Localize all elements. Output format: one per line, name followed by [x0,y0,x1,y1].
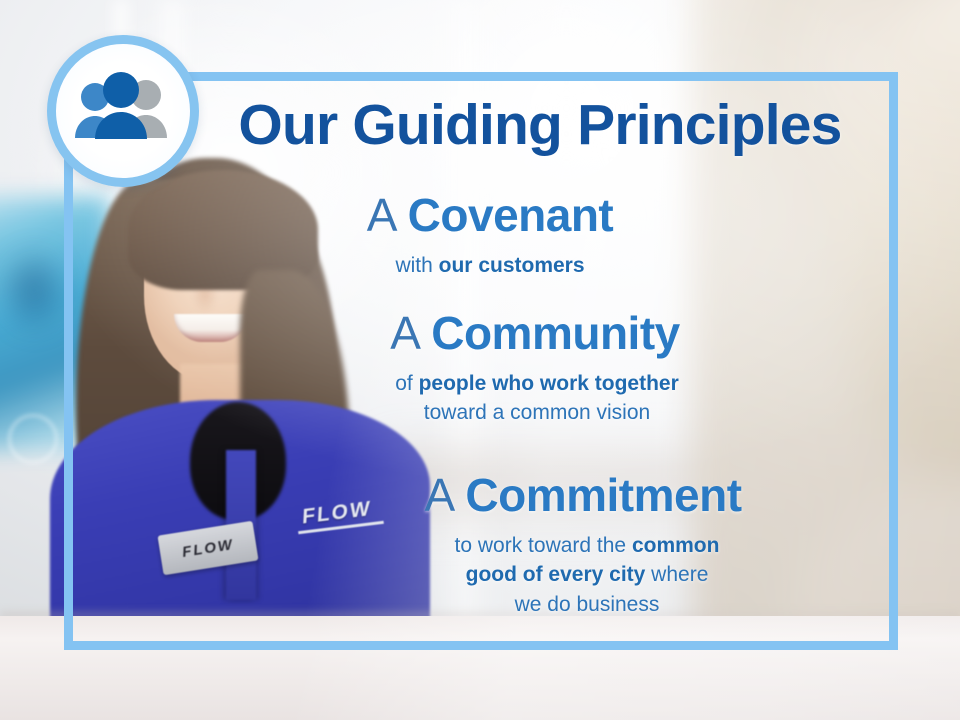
principle-keyword: Community [431,307,680,359]
banner-image: FLOW FLOW [0,0,960,720]
subtext-segment: we do business [515,593,660,616]
subtext-segment-bold: people who work together [419,372,679,395]
principle-block-covenant: A Covenant with our customers [90,190,880,280]
principle-article: A [367,189,408,241]
principle-block-community: A Community of people who work together … [90,308,880,428]
principle-keyword: Covenant [408,189,614,241]
subtext-segment: where [645,563,708,586]
subtext-segment: of [395,372,418,395]
principle-title-commitment: A Commitment [90,470,880,522]
subtext-segment-bold: our customers [439,254,585,277]
subtext-line: toward a common vision [194,398,880,428]
subtext-line: to work toward the common [294,531,880,561]
subtext-segment: with [395,254,438,277]
subtext-line: with our customers [100,251,880,281]
subtext-segment: to work toward the [455,534,632,557]
subtext-line: of people who work together [194,369,880,399]
principle-subtext-commitment: to work toward the common good of every … [90,531,880,620]
subtext-segment: toward a common vision [424,401,650,424]
principle-block-commitment: A Commitment to work toward the common g… [90,470,880,620]
principle-article: A [390,307,431,359]
principle-keyword: Commitment [465,469,741,521]
principle-article: A [424,469,465,521]
subtext-segment-bold: common [632,534,720,557]
principle-title-covenant: A Covenant [90,190,880,242]
page-title: Our Guiding Principles [210,96,870,154]
text-content: Our Guiding Principles A Covenant with o… [90,80,880,640]
subtext-line: good of every city where [294,560,880,590]
subtext-line: we do business [294,590,880,620]
subtext-segment-bold: good of every city [466,563,646,586]
principle-subtext-community: of people who work together toward a com… [90,369,880,429]
principle-subtext-covenant: with our customers [90,251,880,281]
principle-title-community: A Community [90,308,880,360]
